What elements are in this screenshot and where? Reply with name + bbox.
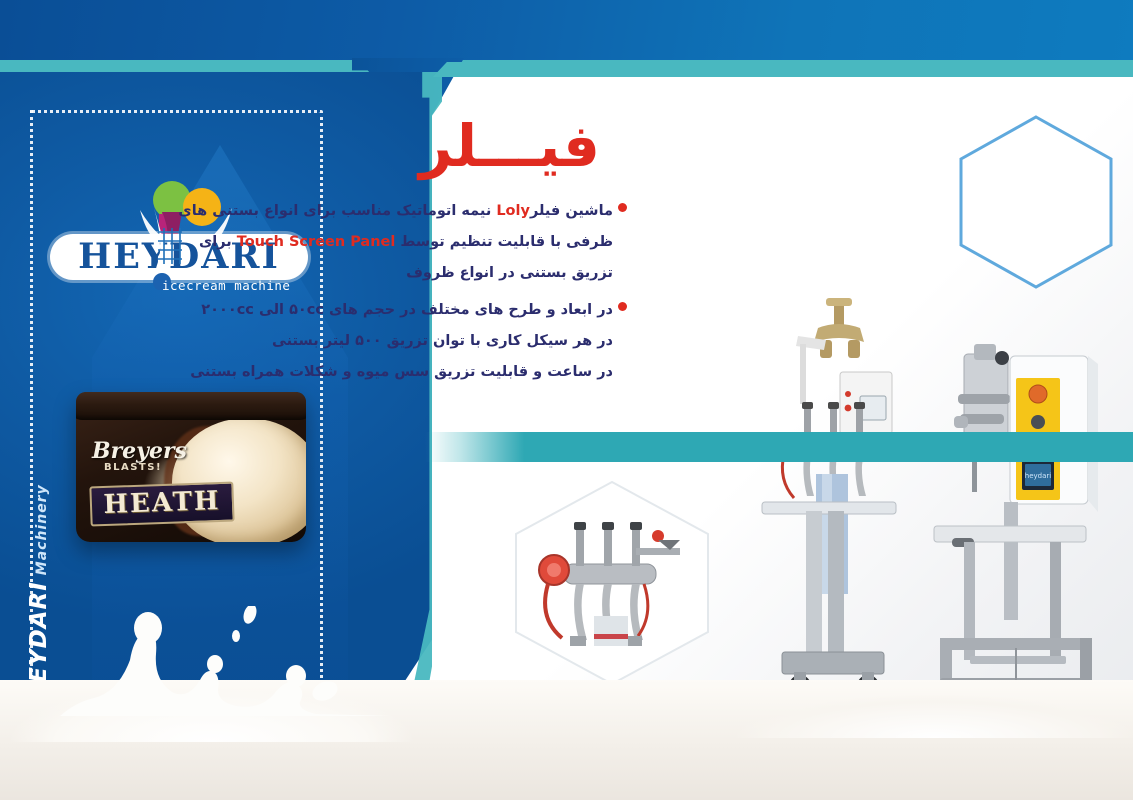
bullet-text-pre: ماشین فیلر [530,203,613,219]
hexagon-outline-icon [956,112,1116,292]
ice-cream-tub-photo: Breyers BLASTS! HEATH [76,392,306,542]
bullet-text-pre: در هر سیکل کاری با توان تزریق ۵۰۰ لیتر ب… [272,333,613,349]
page-title: فیـــلر [419,112,600,180]
svg-text:heydari: heydari [1025,472,1051,480]
hexagon-detail-icon [508,478,716,688]
tub-lid [76,392,306,420]
tub-brand-label: Breyers [92,438,187,464]
milk-splash-icon [60,606,390,716]
bullet-line: تزریق بستنی در انواع ظروف [193,258,613,289]
bullet-line: در هر سیکل کاری با توان تزریق ۵۰۰ لیتر ب… [193,326,613,357]
bullet-item: ماشین فیلرLoly نیمه اتوماتیک مناسب برای … [193,196,613,289]
bullet-item: در ابعاد و طرح های مختلف در حجم های ۵۰cc… [193,295,613,388]
tub-ice-cream-scoop [172,418,306,542]
milk-pool-right-highlight [700,648,1133,738]
teal-crossing-band [425,432,1133,462]
poster-canvas: HEYDARI icecream machine HEYDARIMachiner… [0,0,1133,800]
bullet-text-en: Touch Screen Panel [237,234,396,250]
bullet-line: ماشین فیلرLoly نیمه اتوماتیک مناسب برای … [193,196,613,227]
bullet-text-post: برای [199,234,237,250]
right-panel-teal-top-edge [430,62,1133,77]
bullet-text-pre: تزریق بستنی در انواع ظروف [406,265,613,281]
bullet-text-post: نیمه اتوماتیک مناسب برای انواع بستنی های [178,203,496,219]
bullet-line: در ابعاد و طرح های مختلف در حجم های ۵۰cc… [193,295,613,326]
bullet-text-pre: در ابعاد و طرح های مختلف در حجم های ۵۰cc… [201,302,613,318]
milk-droplet-icon [310,678,340,704]
bullet-text-pre: ظرفی با قابلیت تنظیم توسط [395,234,613,250]
feature-bullet-list: ماشین فیلرLoly نیمه اتوماتیک مناسب برای … [193,196,613,394]
filler-machine-main-photo [760,296,940,706]
bullet-dot-icon [618,302,627,311]
bullet-line: در ساعت و قابلیت تزریق سس میوه و شکلات ه… [193,357,613,388]
bullet-line: ظرفی با قابلیت تنظیم توسط Touch Screen P… [193,227,613,258]
tub-flavor-label: HEATH [89,481,234,526]
bullet-text-pre: در ساعت و قابلیت تزریق سس میوه و شکلات ه… [190,364,613,380]
bullet-text-en: Loly [496,203,530,219]
tub-subbrand-label: BLASTS! [104,462,162,473]
vertical-brand-suffix: Machinery [34,484,50,575]
bullet-dot-icon [618,203,627,212]
